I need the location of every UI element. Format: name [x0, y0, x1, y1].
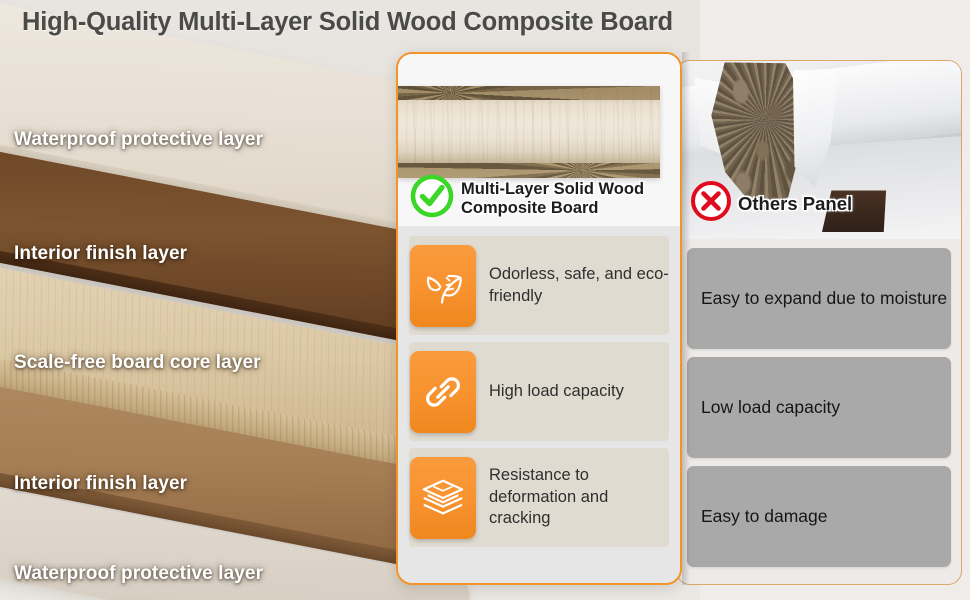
layer-label-core: Scale-free board core layer — [14, 352, 261, 374]
product-feature-list: Odorless, safe, and eco-friendly High lo… — [398, 226, 680, 547]
others-panel-card: Others Panel Easy to expand due to moist… — [676, 60, 962, 585]
product-feature-text: Odorless, safe, and eco-friendly — [489, 264, 669, 307]
others-feature-row: Easy to damage — [687, 466, 951, 567]
product-feature-row: Odorless, safe, and eco-friendly — [409, 236, 669, 335]
layer-label-interior-finish-top: Interior finish layer — [14, 243, 187, 265]
others-feature-text: Easy to expand due to moisture — [701, 287, 947, 310]
product-feature-row: High load capacity — [409, 342, 669, 441]
product-panel-card: Multi-Layer Solid Wood Composite Board O… — [396, 52, 682, 585]
check-circle-icon — [410, 174, 454, 223]
product-feature-text: High load capacity — [489, 381, 624, 402]
others-panel-photo: Others Panel — [677, 61, 961, 239]
product-feature-text: Resistance to deformation and cracking — [489, 465, 669, 529]
others-feature-list: Easy to expand due to moisture Low load … — [677, 239, 961, 567]
product-badge-label: Multi-Layer Solid Wood Composite Board — [461, 180, 646, 218]
leaf-icon — [410, 245, 476, 327]
chain-link-icon — [410, 351, 476, 433]
cross-circle-icon — [691, 181, 731, 226]
layer-label-interior-finish-bottom: Interior finish layer — [14, 473, 187, 495]
others-badge-label: Others Panel — [738, 193, 852, 214]
product-badge: Multi-Layer Solid Wood Composite Board — [410, 174, 646, 223]
others-feature-row: Easy to expand due to moisture — [687, 248, 951, 349]
stacked-layers-icon — [410, 457, 476, 539]
product-panel-photo: Multi-Layer Solid Wood Composite Board — [398, 54, 680, 226]
others-badge: Others Panel — [691, 181, 852, 226]
page-title: High-Quality Multi-Layer Solid Wood Comp… — [22, 8, 673, 37]
others-feature-text: Easy to damage — [701, 505, 827, 528]
product-feature-row: Resistance to deformation and cracking — [409, 448, 669, 547]
others-feature-row: Low load capacity — [687, 357, 951, 458]
infographic-stage: Waterproof protective layer Interior fin… — [0, 0, 970, 600]
product-board-cross-section — [398, 86, 660, 178]
layer-label-waterproof-bottom: Waterproof protective layer — [14, 563, 263, 585]
card-overlap-shadow — [682, 52, 690, 585]
others-feature-text: Low load capacity — [701, 396, 840, 419]
layer-label-waterproof-top: Waterproof protective layer — [14, 129, 263, 151]
